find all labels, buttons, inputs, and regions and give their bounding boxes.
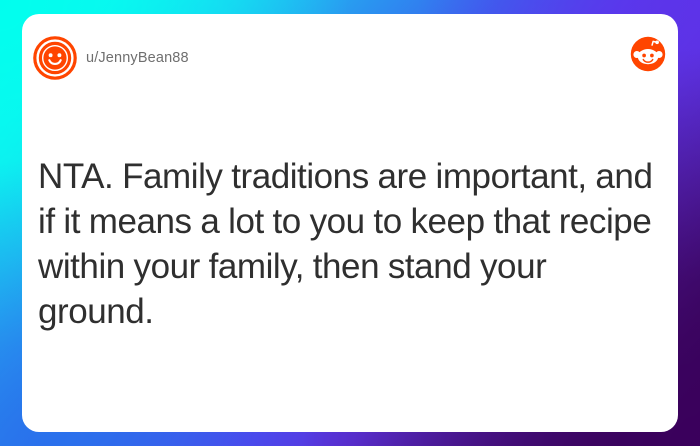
comment-card: u/JennyBean88 xyxy=(22,14,678,432)
smiley-face-avatar-icon[interactable] xyxy=(33,36,77,80)
card-header: u/JennyBean88 xyxy=(22,14,678,110)
username-label: u/JennyBean88 xyxy=(86,48,189,68)
reddit-snoo-logo-icon[interactable] xyxy=(630,36,666,72)
screenshot-stage: u/JennyBean88 xyxy=(0,0,700,446)
comment-text: NTA. Family traditions are important, an… xyxy=(38,154,662,334)
